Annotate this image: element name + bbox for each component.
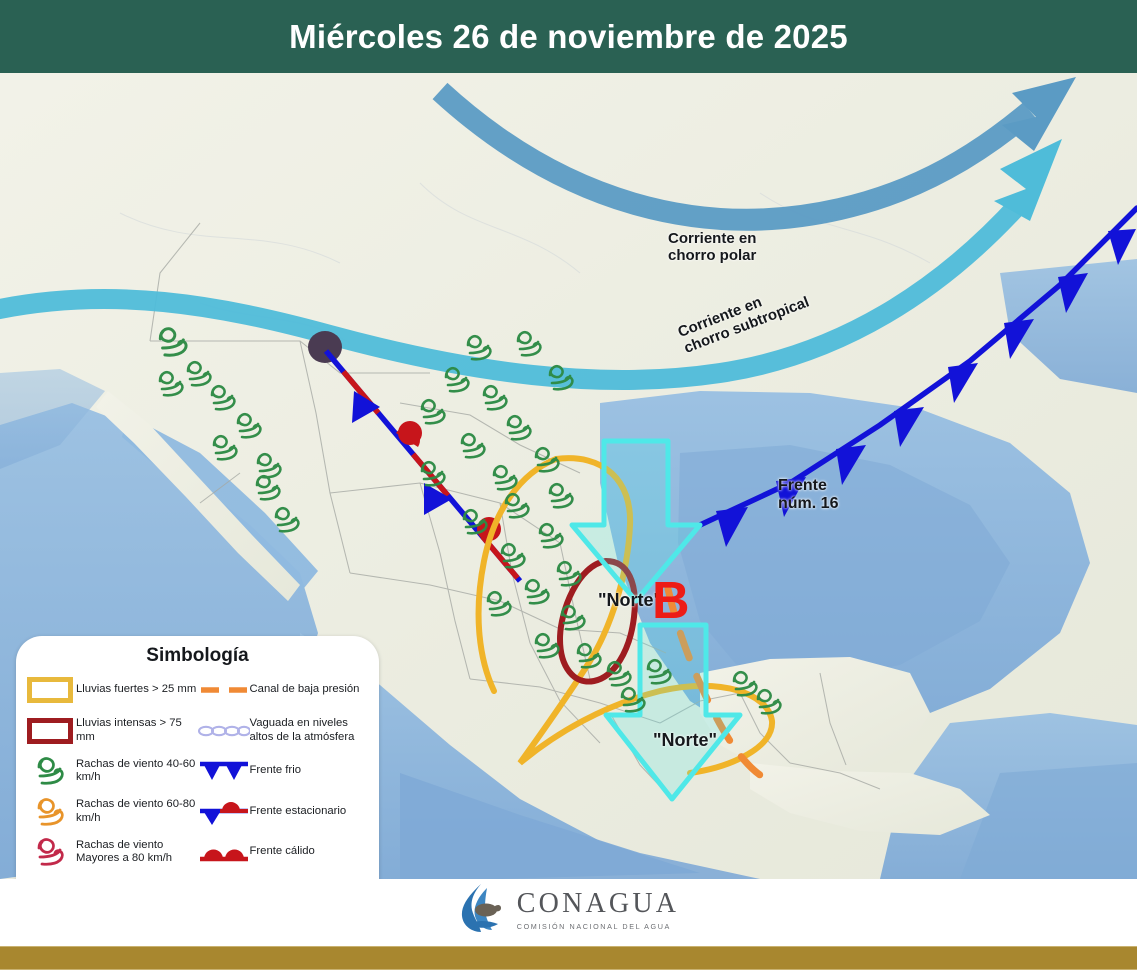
cold-front-number-label: Frente núm. 16: [778, 477, 838, 513]
wind-gust-red-icon: [24, 833, 76, 871]
footer-gold-bar: [0, 946, 1137, 970]
legend-item: Frente frio: [198, 751, 372, 792]
page-header: Miércoles 26 de noviembre de 2025: [0, 0, 1137, 73]
warm-front-icon: [198, 833, 250, 871]
legend-item-label: Canal de baja presión: [250, 683, 360, 697]
conagua-wordmark: CONAGUA: [517, 890, 679, 918]
legend-panel: Simbología Lluvias fuertes > 25 mm: [16, 636, 379, 879]
legend-item: Lluvias intensas > 75 mm: [24, 711, 198, 752]
weather-map-page: Miércoles 26 de noviembre de 2025: [0, 0, 1137, 973]
legend-item-label: Vaguada en niveles altos de la atmósfera: [250, 717, 372, 744]
conagua-logo: CONAGUA COMISIÓN NACIONAL DEL AGUA: [0, 879, 1137, 941]
upper-trough-chain-icon: [198, 712, 250, 750]
legend-item-label: Frente estacionario: [250, 805, 347, 819]
stationary-front-icon: [198, 793, 250, 831]
trough-dashes-icon: [198, 671, 250, 709]
page-footer: CONAGUA COMISIÓN NACIONAL DEL AGUA: [0, 879, 1137, 973]
legend-column-right: Canal de baja presión Vaguada en nive: [198, 670, 372, 879]
conagua-emblem-icon: [458, 882, 506, 939]
legend-item: Rachas de viento Mayores a 80 km/h: [24, 832, 198, 873]
wind-gust-green-icon: [24, 752, 76, 790]
legend-item-label: Lluvias fuertes > 25 mm: [76, 683, 196, 697]
legend-item-label: Frente cálido: [250, 845, 315, 859]
rain-heavy-box-icon: [24, 671, 76, 709]
norte-label-south: "Norte": [653, 730, 717, 750]
legend-item-label: Lluvias intensas > 75 mm: [76, 717, 198, 744]
legend-item: Vaguada en niveles altos de la atmósfera: [198, 711, 372, 752]
legend-title: Simbología: [16, 645, 379, 667]
cold-front-icon: [198, 752, 250, 790]
legend-item-label: Frente frio: [250, 764, 301, 778]
legend-item-label: Rachas de viento Mayores a 80 km/h: [76, 839, 198, 866]
weather-map: Corriente en chorro polar Corriente en c…: [0, 73, 1137, 879]
low-pressure-symbol: B: [652, 575, 690, 627]
wind-gust-orange-icon: [24, 793, 76, 831]
page-title: Miércoles 26 de noviembre de 2025: [289, 18, 848, 56]
legend-column-left: Lluvias fuertes > 25 mm Lluvias intensas…: [24, 670, 198, 879]
legend-item: Canal de baja presión: [198, 670, 372, 711]
legend-item: Frente estacionario: [198, 792, 372, 833]
conagua-subtitle: COMISIÓN NACIONAL DEL AGUA: [517, 922, 679, 931]
legend-item: Rachas de viento 60-80 km/h: [24, 792, 198, 833]
legend-item-label: Rachas de viento 60-80 km/h: [76, 798, 198, 825]
legend-item: Frente cálido: [198, 832, 372, 873]
legend-item: Rachas de viento 40-60 km/h: [24, 751, 198, 792]
legend-item: Lluvias fuertes > 25 mm: [24, 670, 198, 711]
legend-item-label: Rachas de viento 40-60 km/h: [76, 758, 198, 785]
rain-intense-box-icon: [24, 712, 76, 750]
jet-polar-label: Corriente en chorro polar: [668, 231, 756, 265]
